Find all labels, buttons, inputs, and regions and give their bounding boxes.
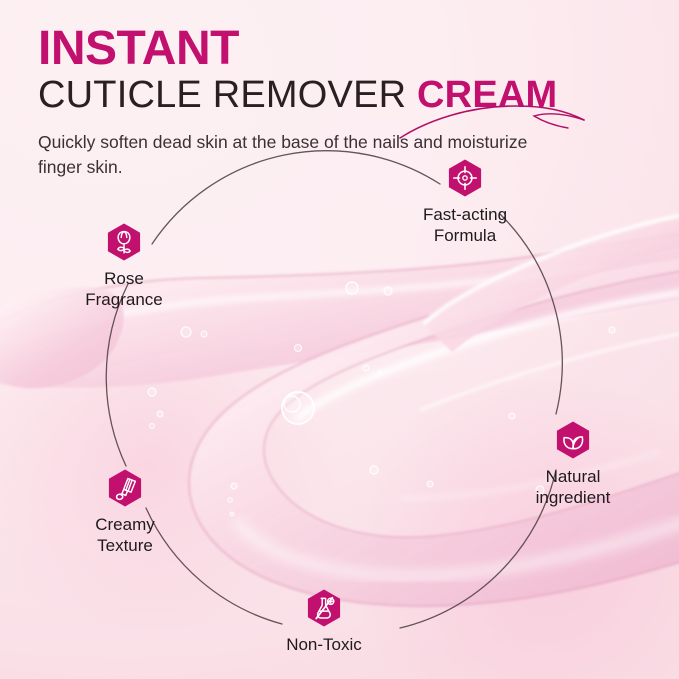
background-blob-left (0, 300, 360, 630)
feature-natural-ingredient[interactable]: Natural ingredient (493, 420, 653, 509)
no-flask-icon (304, 588, 344, 628)
product-infographic-poster: INSTANT CUTICLE REMOVER CREAM Quickly so… (0, 0, 679, 679)
feature-creamy-texture[interactable]: Creamy Texture (45, 468, 205, 557)
feature-fast-acting[interactable]: Fast-acting Formula (385, 158, 545, 247)
cream-tube-icon (105, 468, 145, 508)
feature-non-toxic-label: Non-Toxic (286, 634, 362, 655)
page-title-secondary-accent: CREAM (417, 74, 557, 116)
feature-creamy-texture-label: Creamy Texture (95, 514, 155, 557)
target-icon (445, 158, 485, 198)
feature-rose-fragrance[interactable]: Rose Fragrance (44, 222, 204, 311)
feature-fast-acting-label: Fast-acting Formula (423, 204, 507, 247)
leaf-icon (553, 420, 593, 460)
feature-rose-fragrance-label: Rose Fragrance (85, 268, 162, 311)
feature-non-toxic[interactable]: Non-Toxic (244, 588, 404, 655)
feature-natural-ingredient-label: Natural ingredient (536, 466, 611, 509)
rose-flower-icon (104, 222, 144, 262)
page-title-primary: INSTANT (38, 24, 638, 74)
page-title-secondary: CUTICLE REMOVER CREAM (38, 74, 638, 118)
header-block: INSTANT CUTICLE REMOVER CREAM Quickly so… (38, 24, 638, 180)
page-title-secondary-plain: CUTICLE REMOVER (38, 74, 417, 116)
